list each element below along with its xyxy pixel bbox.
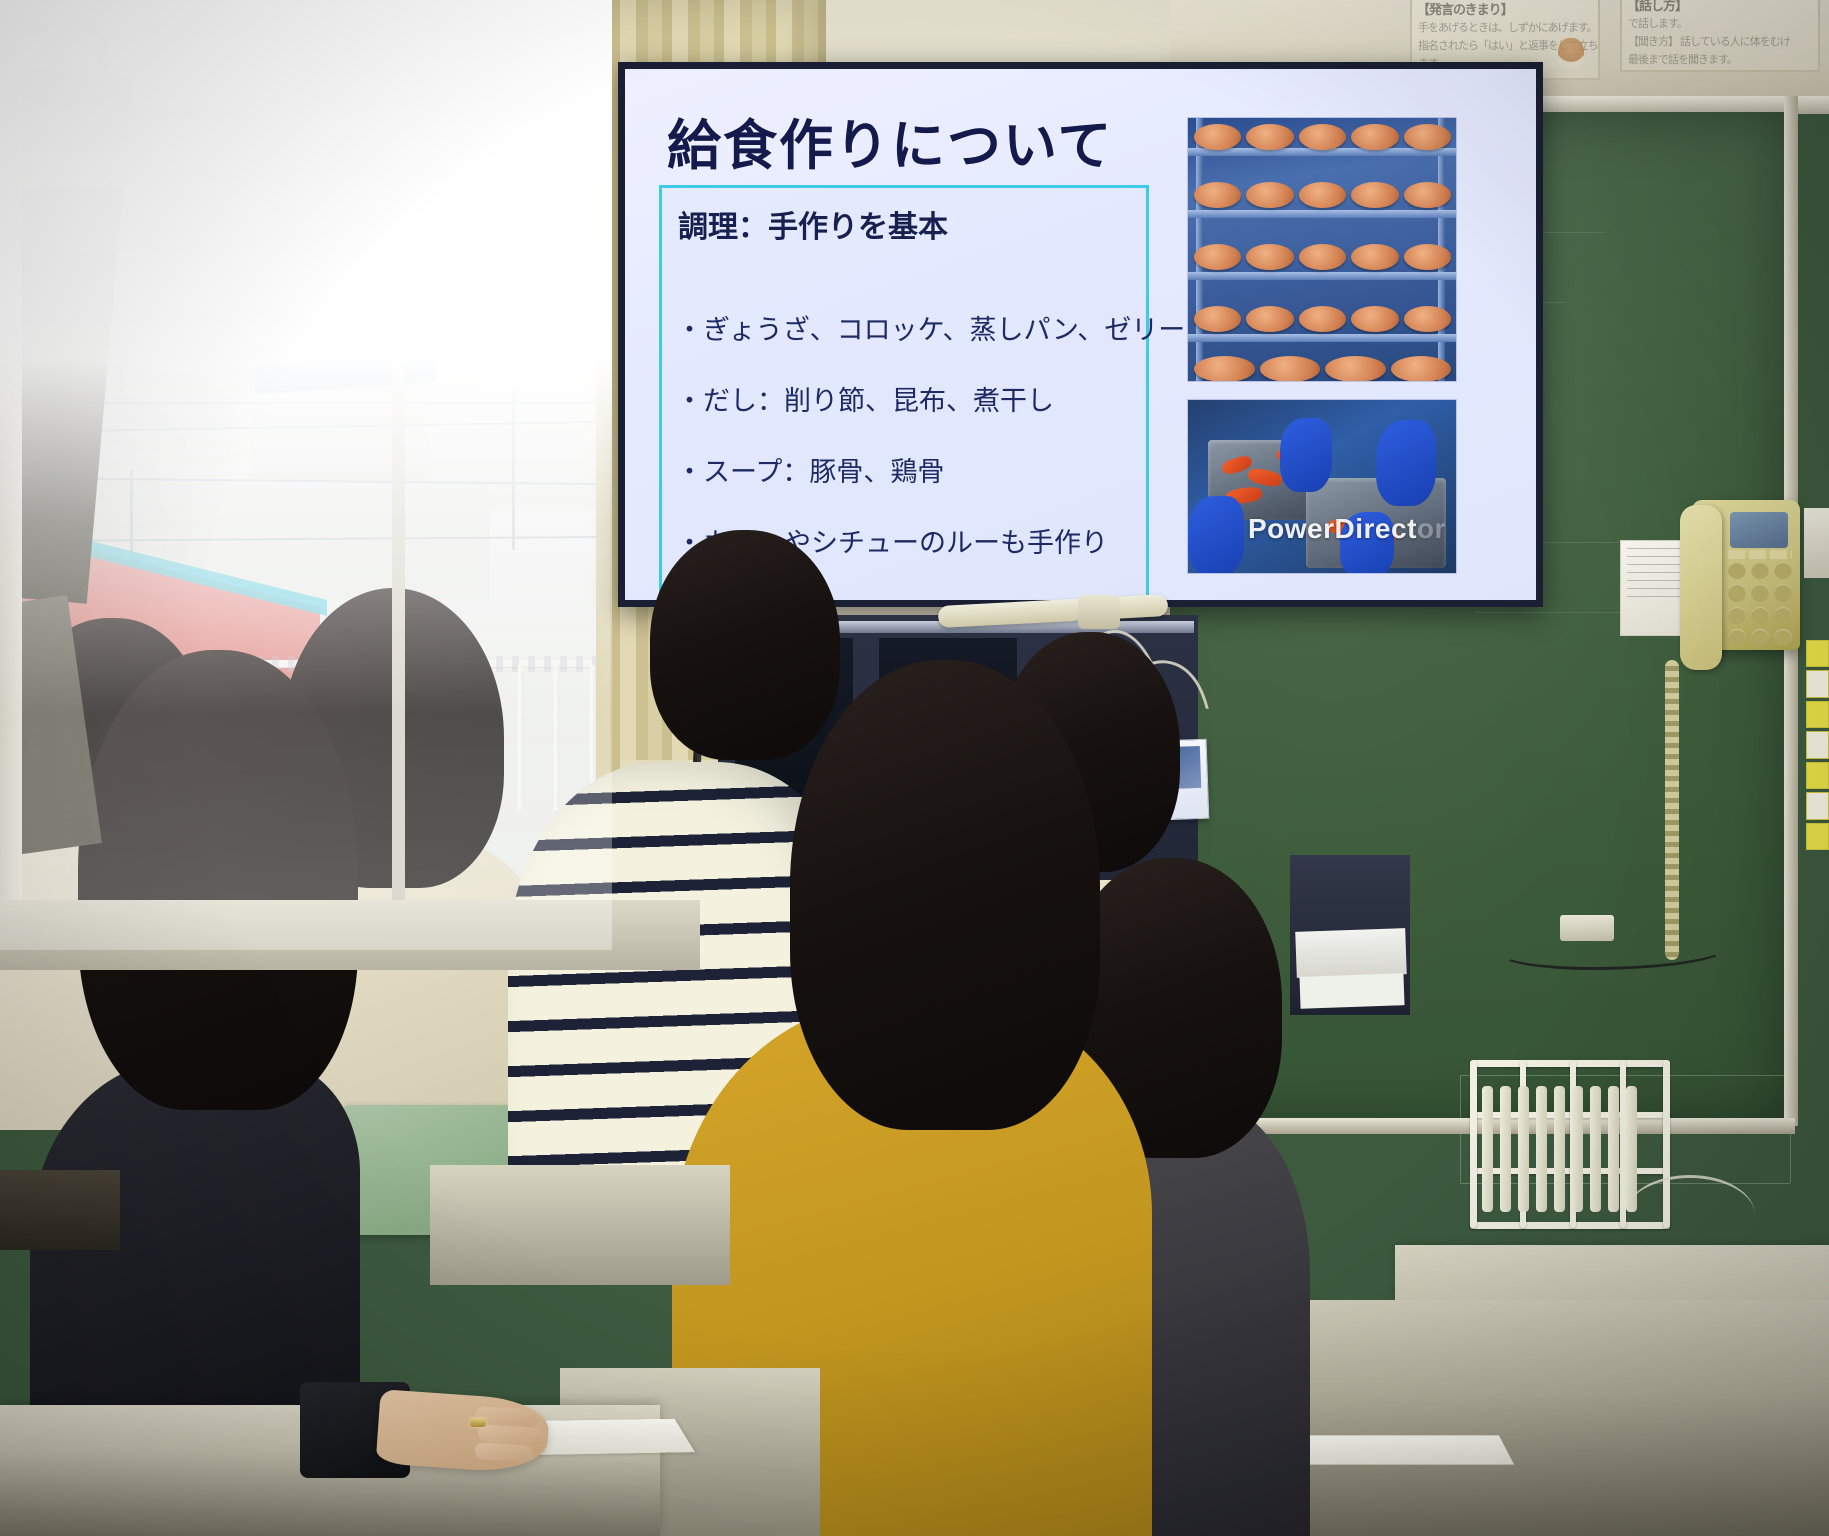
- document-camera-head[interactable]: [1078, 595, 1120, 629]
- phone-display: [1730, 512, 1788, 548]
- mid-desk: [430, 1165, 730, 1285]
- slide-title: 給食作りについて: [667, 101, 1113, 180]
- yellow-magnet-cards: [1806, 640, 1829, 850]
- powerdirector-watermark: PowerDirector: [1248, 513, 1446, 545]
- white-tray: [1295, 928, 1407, 978]
- poster-line: で話します。: [1622, 14, 1818, 32]
- hand-on-desk: [376, 1389, 551, 1475]
- slide-photo-gloved-hands: PowerDirector: [1187, 399, 1457, 574]
- wall-plate: [1804, 508, 1829, 578]
- window-frame-left: [0, 0, 22, 950]
- phone-coiled-cord: [1665, 660, 1679, 960]
- attendee-foreground-hair: [790, 660, 1100, 1130]
- desk-shadow-left: [0, 1170, 120, 1250]
- display-panel: 給食作りについて 調理：手作りを基本 ・ぎょうざ、コロッケ、蒸しパン、ゼリー ・…: [625, 69, 1536, 600]
- attendee-center-hair: [650, 530, 840, 760]
- gold-ring: [470, 1418, 486, 1427]
- tray-label-card: [1299, 973, 1404, 1009]
- slide-subtitle: 調理：手作りを基本: [678, 202, 948, 246]
- slide-bullet: ・ぎょうざ、コロッケ、蒸しパン、ゼリー: [676, 308, 1140, 347]
- watermark-text: PowerDirect: [1248, 513, 1417, 544]
- poster-illustration: [1558, 38, 1584, 68]
- classroom-photo: 【発言のきまり】 手をあげるときは、しずかにあげます。 指名されたら「はい」と返…: [0, 0, 1829, 1536]
- poster-line: 最後まで話を聞きます。: [1622, 50, 1818, 68]
- window-mullion-vertical: [392, 0, 405, 950]
- phone-soft-keys[interactable]: [1728, 550, 1792, 559]
- poster-title: 【話し方】: [1622, 0, 1818, 14]
- poster-listening-rules: 【話し方】 で話します。 【聞き方】 話している人に体をむけ 最後まで話を聞きま…: [1620, 0, 1820, 72]
- watermark-text-faded: or: [1417, 513, 1446, 544]
- front-right-desk: [1245, 1300, 1829, 1536]
- paper-on-front-right-desk: [1278, 1435, 1514, 1464]
- slide-photo-baked-buns: [1187, 117, 1457, 382]
- presentation-slide: 給食作りについて 調理：手作りを基本 ・ぎょうざ、コロッケ、蒸しパン、ゼリー ・…: [625, 69, 1536, 600]
- phone-keypad[interactable]: [1728, 562, 1792, 646]
- attendee-left-front-hair: [78, 650, 358, 1110]
- poster-title: 【発言のきまり】: [1412, 0, 1598, 18]
- poster-line: 手をあげるときは、しずかにあげます。: [1412, 18, 1598, 36]
- window-sill: [0, 900, 700, 970]
- slide-bullet: ・スープ：豚骨、鶏骨: [676, 450, 1140, 489]
- window-mullion-horizontal: [0, 152, 612, 186]
- slide-bullet: ・だし：削り節、昆布、煮干し: [676, 379, 1140, 418]
- wall-mounted-display[interactable]: 給食作りについて 調理：手作りを基本 ・ぎょうざ、コロッケ、蒸しパン、ゼリー ・…: [618, 62, 1543, 607]
- poster-line: 【聞き方】 話している人に体をむけ: [1622, 32, 1818, 50]
- phone-handset[interactable]: [1680, 505, 1722, 670]
